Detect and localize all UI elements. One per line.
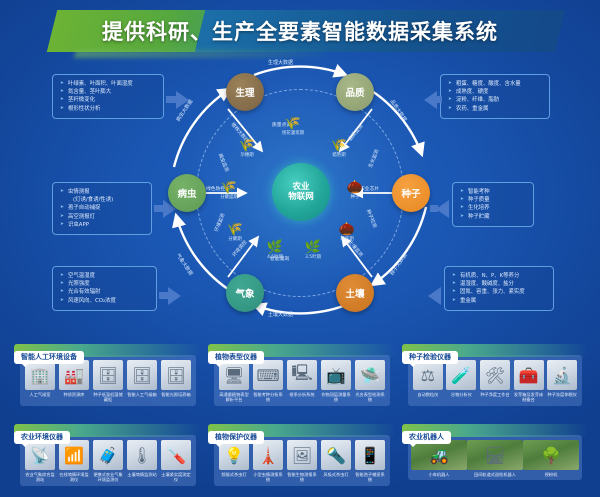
- stage-item: 🌾 分蘖盛期: [212, 181, 246, 201]
- product-name: 智能人工气候箱: [126, 392, 158, 397]
- product-card[interactable]: 🌡 土壤墒情监测站: [126, 440, 158, 477]
- info-item: 种子质量: [460, 196, 529, 204]
- diagram-node-physiology[interactable]: 生理: [226, 73, 264, 111]
- node-label: 病虫: [177, 186, 196, 200]
- product-name: 光合表型检测系统: [354, 392, 386, 403]
- product-thumb: 🗄: [161, 360, 191, 390]
- product-name: 田间轨道式巡检机器人: [467, 472, 523, 477]
- product-card[interactable]: 🗄 智能人工气候箱: [126, 360, 158, 397]
- info-list-weather: 空气温湿度 光照强度 光合有效辐射 风速风向、CO₂浓度: [60, 272, 152, 305]
- info-item: 虫情测报: [60, 188, 147, 196]
- product-card[interactable]: 🖳 根系分析系统: [286, 360, 318, 397]
- product-thumb: 🗄: [127, 360, 157, 390]
- product-card[interactable]: 🛠 种子净度工作台: [479, 360, 511, 397]
- arc-label-bottom: 土壤大数据: [268, 311, 293, 318]
- product-thumb: 🛤: [467, 440, 523, 470]
- product-name: 种质资源库: [58, 392, 90, 397]
- product-thumb: 🔬: [547, 360, 577, 390]
- product-name: 智能光照培养箱: [160, 392, 192, 397]
- info-item: 种子贮藏: [460, 213, 529, 221]
- product-card[interactable]: 📺 作物冠层测量系统: [320, 360, 352, 403]
- product-card[interactable]: 🧳 便携式农业气象环境监测仪: [92, 440, 124, 483]
- info-box-seed: 智能考种 种子质量 生化培养 种子贮藏: [452, 182, 534, 227]
- info-item: 固氮、容重、张力、紧实度: [452, 288, 549, 296]
- product-name: 智能孢子捕捉系统: [354, 472, 386, 483]
- seedling-icon: 🌿: [258, 241, 292, 254]
- product-thumb: 🌳: [523, 440, 579, 470]
- product-name: 智能生物测报系统: [286, 472, 318, 483]
- info-item: 高空测报灯: [60, 213, 147, 221]
- product-name: 风吸式杀虫灯: [320, 472, 352, 477]
- section-title: 植物表型仪器: [208, 351, 264, 364]
- product-name: 智能考种分析系统: [252, 392, 284, 403]
- product-card[interactable]: 🗄 种子低温低湿储藏柜: [92, 360, 124, 403]
- section-plant-protection: 植物保护仪器 💡 频振式杀虫灯 🗼 小型虫情测报系统 🖼 智能生物测报系统 🔦 …: [208, 424, 396, 494]
- product-thumb: 🧰: [514, 360, 544, 390]
- info-box-physiology: 叶绿素、叶面积、叶面湿度 氮含量、茎叶膨大 茎秆微变化 根形性状分析: [52, 74, 164, 119]
- info-list-seed: 智能考种 种子质量 生化培养 种子贮藏: [460, 188, 529, 221]
- product-name: 自动数粒仪: [412, 392, 444, 397]
- agriculture-iot-diagram: 生理大数据 土壤大数据 品质大数据 病虫大数据 种子大数据 气象大数据 质量点调…: [150, 55, 450, 330]
- product-thumb: 🪛: [161, 440, 191, 470]
- info-box-quality: 粗蛋、糖度、酸度、含水量 成熟度、硬度 淀粉、纤维、脂肪 农药、重金属: [440, 74, 550, 119]
- product-thumb: 🖳: [287, 360, 317, 390]
- rice-plant-icon: 🌾: [322, 139, 356, 152]
- info-list-pest: 虫情测报 (灯诱/食诱/性诱) 孢子自动捕捉 高空测报灯 识虫APP: [60, 188, 147, 229]
- seed-icon: 🌰: [338, 181, 372, 194]
- page-title: 提供科研、生产全要素智能数据采集系统: [0, 10, 600, 52]
- section-title: 农业机器人: [402, 431, 451, 444]
- rice-plant-icon: 🌾: [230, 139, 264, 152]
- stage-item: 🌾 孕穗期: [230, 139, 264, 159]
- info-item: 根形性状分析: [60, 105, 159, 113]
- info-item: 识虫APP: [60, 221, 147, 229]
- stage-item: 🌾 分蘖期: [218, 223, 252, 243]
- diagram-node-soil[interactable]: 土壤: [336, 274, 374, 312]
- product-card[interactable]: 🧪 谷物分析仪: [445, 360, 477, 397]
- product-card[interactable]: 🌳 授粉机: [523, 440, 579, 477]
- product-card[interactable]: ⌨ 智能考种分析系统: [252, 360, 284, 403]
- node-label: 土壤: [345, 286, 364, 300]
- section-plant-phenotype: 植物表型仪器 🖥 高通量植物表型解析平台 ⌨ 智能考种分析系统 🖳 根系分析系统…: [208, 344, 396, 416]
- product-thumb: 🗼: [253, 440, 283, 470]
- arc-label-top: 生理大数据: [268, 59, 293, 66]
- info-item: 生化培养: [460, 204, 529, 212]
- info-item: 重金属: [452, 297, 549, 305]
- stage-label: 分蘖盛期: [212, 195, 246, 201]
- product-name: 在线墒情环境监测仪: [58, 472, 90, 483]
- section-title: 农业环境仪器: [14, 431, 70, 444]
- rice-plant-icon: 🌾: [276, 117, 310, 130]
- info-item: 光照强度: [60, 280, 152, 288]
- stage-label: 4.5叶期: [258, 255, 292, 261]
- info-item: 温湿度、酸碱度、盐分: [452, 280, 549, 288]
- stage-label: 种子: [338, 195, 372, 201]
- info-list-quality: 粗蛋、糖度、酸度、含水量 成熟度、硬度 淀粉、纤维、脂肪 农药、重金属: [448, 80, 545, 113]
- info-item: 叶绿素、叶面积、叶面湿度: [60, 80, 159, 88]
- stage-label: 孕穗期: [230, 153, 264, 159]
- node-label: 生理: [235, 85, 254, 99]
- rice-plant-icon: 🌾: [212, 181, 246, 194]
- info-item: 有机质、N、P、K等养分: [452, 272, 549, 280]
- product-card[interactable]: 🔦 风吸式杀虫灯: [320, 440, 352, 477]
- info-box-pest: 虫情测报 (灯诱/食诱/性诱) 孢子自动捕捉 高空测报灯 识虫APP: [52, 182, 152, 235]
- section-agri-environment: 农业环境仪器 📡 农业气象综合监测站 📶 在线墒情环境监测仪 🧳 便携式农业气象…: [14, 424, 202, 494]
- product-card[interactable]: 🚜 小车机器人: [411, 440, 467, 477]
- product-thumb: 🧪: [446, 360, 476, 390]
- product-card[interactable]: 🏭 种质资源库: [58, 360, 90, 397]
- poster-canvas: 提供科研、生产全要素智能数据采集系统 叶绿素、叶面积、叶面湿度 氮含量、茎叶膨大…: [0, 0, 600, 497]
- diagram-node-weather[interactable]: 气象: [226, 274, 264, 312]
- stage-item: 🌰 萌芽期: [330, 223, 364, 243]
- stage-item: 🌰 种子: [338, 181, 372, 201]
- product-thumb: 🧳: [93, 440, 123, 470]
- title-banner: 提供科研、生产全要素智能数据采集系统: [0, 10, 600, 52]
- product-thumb: 🗄: [93, 360, 123, 390]
- product-thumb: 🖥: [219, 360, 249, 390]
- product-thumb: 📱: [355, 440, 385, 470]
- product-thumb: 🔦: [321, 440, 351, 470]
- node-label: 品质: [345, 85, 364, 99]
- product-card[interactable]: 📶 在线墒情环境监测仪: [58, 440, 90, 483]
- stage-item: 🌾 扬花灌浆期: [276, 117, 310, 137]
- rice-plant-icon: 🌾: [218, 223, 252, 236]
- product-card[interactable]: 🛸 光合表型检测系统: [354, 360, 386, 403]
- stage-item: 🌾 蜡熟期: [322, 139, 356, 159]
- info-item: 粗蛋、糖度、酸度、含水量: [448, 80, 545, 88]
- product-thumb: 📡: [25, 440, 55, 470]
- product-thumb: ⚖: [413, 360, 443, 390]
- product-name: 土壤紧实度测定仪: [160, 472, 192, 483]
- info-item: 淀粉、纤维、脂肪: [448, 96, 545, 104]
- section-title: 植物保护仪器: [208, 431, 264, 444]
- section-title: 种子检验仪器: [402, 351, 458, 364]
- product-thumb: 📶: [59, 440, 89, 470]
- product-name: 农业气象综合监测站: [24, 472, 56, 483]
- sprout-icon: 🌰: [330, 223, 364, 236]
- stage-label: 3.5叶期: [296, 255, 330, 261]
- product-card[interactable]: 🛤 田间轨道式巡检机器人: [467, 440, 523, 477]
- product-thumb: 💡: [219, 440, 249, 470]
- stage-label: 萌芽期: [330, 237, 364, 243]
- product-card[interactable]: 🔬 种子冻度休眠仪: [546, 360, 578, 397]
- stage-item: 🌿 3.5叶期: [296, 241, 330, 261]
- product-thumb: 🌡: [127, 440, 157, 470]
- product-name: 根系分析系统: [286, 392, 318, 397]
- product-thumb: 🛸: [355, 360, 385, 390]
- product-thumb: 🏢: [25, 360, 55, 390]
- seedling-icon: 🌿: [296, 241, 330, 254]
- section-smart-environment: 智能人工环境设备 🏢 人工气候室 🏭 种质资源库 🗄 种子低温低湿储藏柜 🗄 智…: [14, 344, 202, 416]
- info-item: 光合有效辐射: [60, 288, 152, 296]
- product-name: 高通量植物表型解析平台: [218, 392, 250, 403]
- info-list-soil: 有机质、N、P、K等养分 温湿度、酸碱度、盐分 固氮、容重、张力、紧实度 重金属: [452, 272, 549, 305]
- product-name: 土壤墒情监测站: [126, 472, 158, 477]
- product-card[interactable]: 🖼 智能生物测报系统: [286, 440, 318, 483]
- diagram-hub: 农业 物联网: [272, 163, 330, 221]
- product-card[interactable]: 📱 智能孢子捕捉系统: [354, 440, 386, 483]
- section-agri-robots: 农业机器人 🚜 小车机器人 🛤 田间轨道式巡检机器人 🌳 授粉机: [402, 424, 588, 494]
- product-name: 种子冻度休眠仪: [546, 392, 578, 397]
- product-name: 人工气候室: [24, 392, 56, 397]
- info-item: 风速风向、CO₂浓度: [60, 297, 152, 305]
- section-seed-testing: 种子检验仪器 ⚖ 自动数粒仪 🧪 谷物分析仪 🛠 种子净度工作台 🧰 发芽箱及发…: [402, 344, 588, 416]
- product-name: 小车机器人: [411, 472, 467, 477]
- info-item: 农药、重金属: [448, 105, 545, 113]
- hub-line-1: 农业: [292, 182, 309, 192]
- product-name: 频振式杀虫灯: [218, 472, 250, 477]
- product-thumb: ⌨: [253, 360, 283, 390]
- stage-label: 分蘖期: [218, 237, 252, 243]
- product-name: 便携式农业气象环境监测仪: [92, 472, 124, 483]
- product-card[interactable]: 🧰 发芽箱及发芽床制备台: [513, 360, 545, 403]
- product-name: 种子低温低湿储藏柜: [92, 392, 124, 403]
- product-thumb: 🚜: [411, 440, 467, 470]
- info-box-weather: 空气温湿度 光照强度 光合有效辐射 风速风向、CO₂浓度: [52, 266, 157, 311]
- node-label: 种子: [401, 186, 420, 200]
- product-card[interactable]: 🪛 土壤紧实度测定仪: [160, 440, 192, 483]
- info-list-physiology: 叶绿素、叶面积、叶面湿度 氮含量、茎叶膨大 茎秆微变化 根形性状分析: [60, 80, 159, 113]
- diagram-node-seed[interactable]: 种子: [392, 174, 430, 212]
- hub-line-2: 物联网: [288, 192, 314, 202]
- product-name: 种子净度工作台: [479, 392, 511, 397]
- info-item-sub: (灯诱/食诱/性诱): [60, 196, 147, 204]
- diagram-node-pest[interactable]: 病虫: [168, 174, 206, 212]
- info-item: 孢子自动捕捉: [60, 204, 147, 212]
- product-name: 作物冠层测量系统: [320, 392, 352, 403]
- product-thumb: 🏭: [59, 360, 89, 390]
- info-item: 茎秆微变化: [60, 96, 159, 104]
- info-item: 成熟度、硬度: [448, 88, 545, 96]
- product-name: 小型虫情测报系统: [252, 472, 284, 483]
- info-item: 氮含量、茎叶膨大: [60, 88, 159, 96]
- info-item: 智能考种: [460, 188, 529, 196]
- stage-item: 🌿 4.5叶期: [258, 241, 292, 261]
- section-title: 智能人工环境设备: [14, 351, 84, 364]
- product-thumb: 📺: [321, 360, 351, 390]
- product-name: 发芽箱及发芽床制备台: [513, 392, 545, 403]
- diagram-node-quality[interactable]: 品质: [336, 73, 374, 111]
- stage-label: 扬花灌浆期: [276, 131, 310, 137]
- info-box-soil: 有机质、N、P、K等养分 温湿度、酸碱度、盐分 固氮、容重、张力、紧实度 重金属: [444, 266, 554, 311]
- node-label: 气象: [235, 286, 254, 300]
- product-card[interactable]: 🗄 智能光照培养箱: [160, 360, 192, 397]
- product-name: 授粉机: [523, 472, 579, 477]
- product-thumb: 🛠: [480, 360, 510, 390]
- product-name: 谷物分析仪: [445, 392, 477, 397]
- product-thumb: 🖼: [287, 440, 317, 470]
- stage-label: 蜡熟期: [322, 153, 356, 159]
- product-card[interactable]: 🗼 小型虫情测报系统: [252, 440, 284, 483]
- info-item: 空气温湿度: [60, 272, 152, 280]
